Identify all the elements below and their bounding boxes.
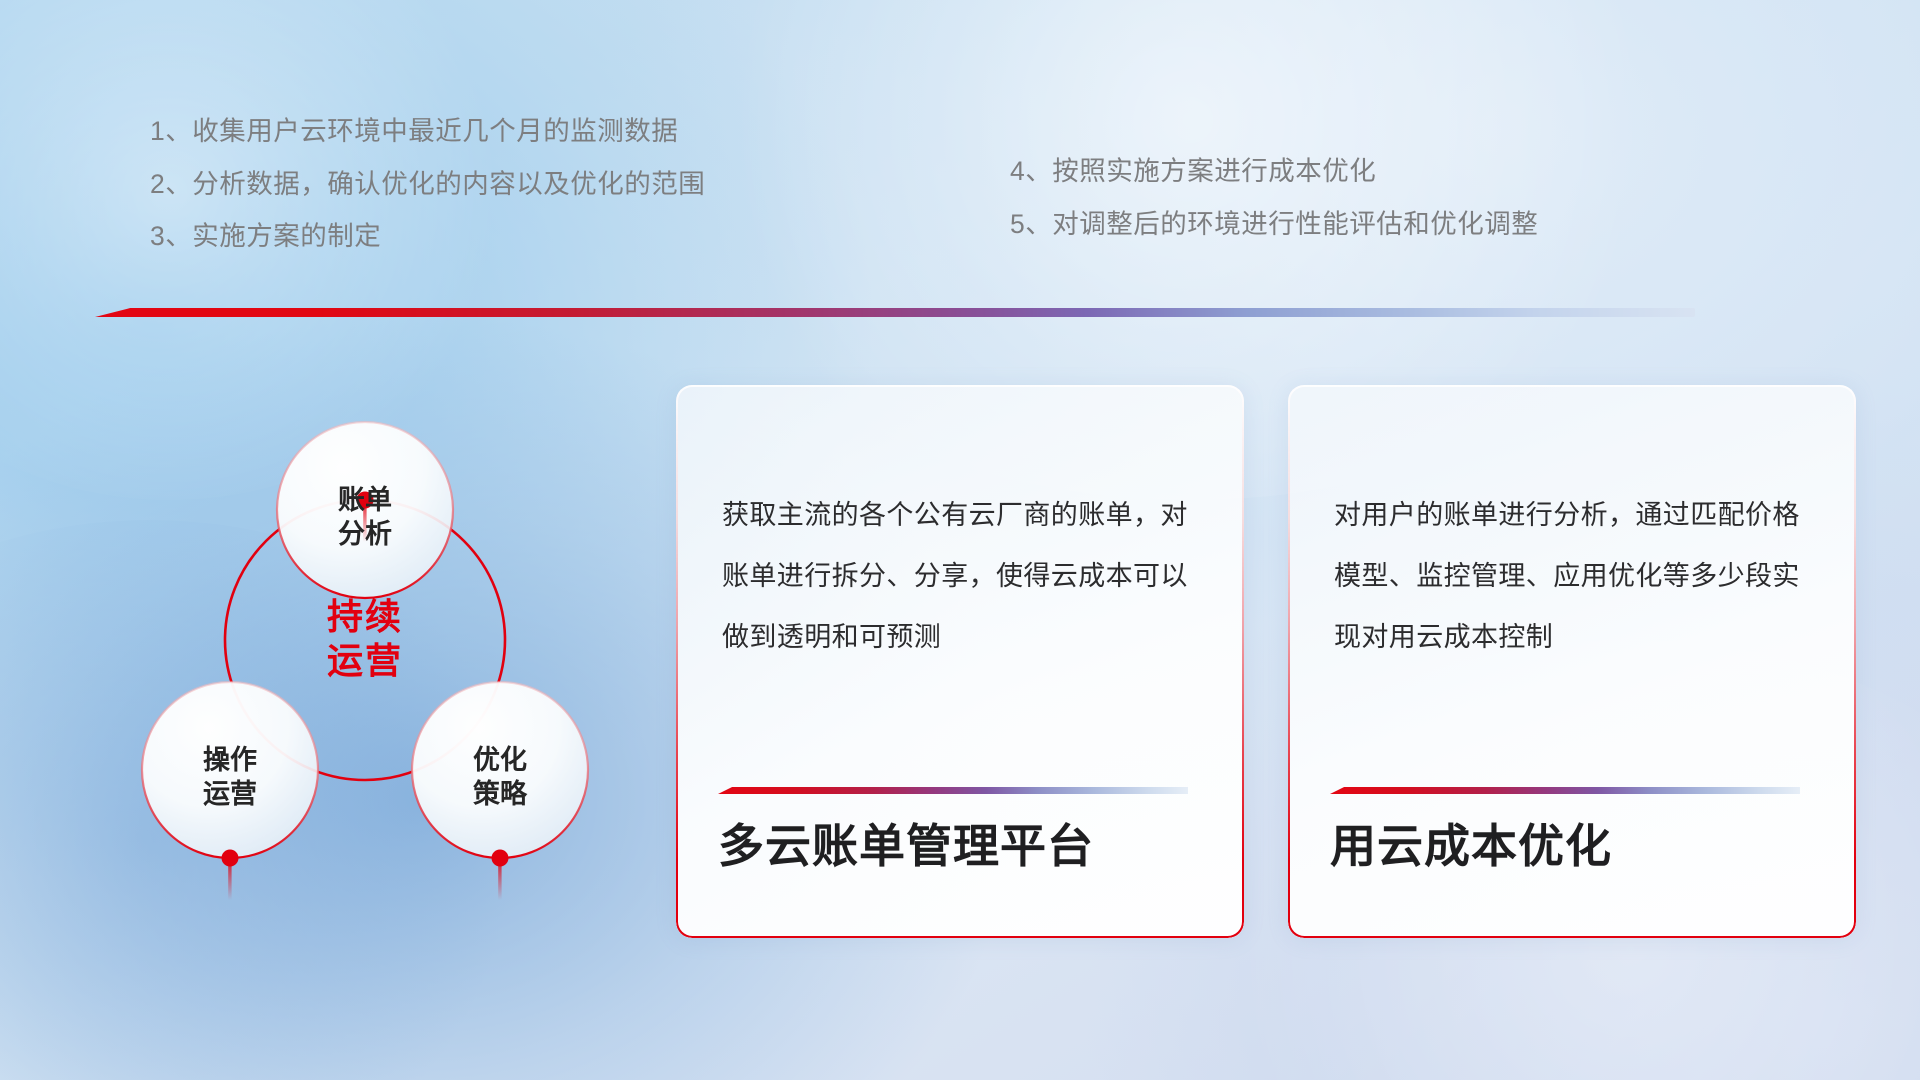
step-item: 2、分析数据，确认优化的内容以及优化的范围 (150, 171, 705, 198)
node-label-line: 账单 (300, 483, 430, 517)
node-label-line: 运营 (165, 777, 295, 811)
node-label-top: 账单 分析 (300, 483, 430, 551)
steps-left-column: 1、收集用户云环境中最近几个月的监测数据 2、分析数据，确认优化的内容以及优化的… (150, 118, 705, 276)
node-label-line: 策略 (435, 777, 565, 811)
node-label-bottom-right: 优化 策略 (435, 743, 565, 811)
node-label-line: 分析 (300, 517, 430, 551)
card-title: 用云成本优化 (1330, 810, 1612, 876)
feature-card-multicloud-billing[interactable]: 获取主流的各个公有云厂商的账单，对账单进行拆分、分享，使得云成本可以做到透明和可… (676, 385, 1244, 938)
center-label-line: 持续 (285, 595, 445, 639)
card-divider (718, 787, 1188, 794)
node-label-line: 操作 (165, 743, 295, 777)
step-item: 4、按照实施方案进行成本优化 (1010, 158, 1538, 185)
steps-right-column: 4、按照实施方案进行成本优化 5、对调整后的环境进行性能评估和优化调整 (1010, 158, 1538, 263)
card-divider (1330, 787, 1800, 794)
card-title: 多云账单管理平台 (718, 810, 1094, 876)
card-description: 对用户的账单进行分析，通过匹配价格模型、监控管理、应用优化等多少段实现对用云成本… (1334, 485, 1820, 667)
step-item: 5、对调整后的环境进行性能评估和优化调整 (1010, 211, 1538, 238)
center-label-line: 运营 (285, 639, 445, 683)
diagram-center-label: 持续 运营 (285, 595, 445, 683)
node-label-line: 优化 (435, 743, 565, 777)
connector-dot-bottom-right (492, 850, 509, 867)
slide-canvas: 1、收集用户云环境中最近几个月的监测数据 2、分析数据，确认优化的内容以及优化的… (0, 0, 1920, 1080)
connector-dot-bottom-left (222, 850, 239, 867)
step-item: 3、实施方案的制定 (150, 223, 705, 250)
card-description: 获取主流的各个公有云厂商的账单，对账单进行拆分、分享，使得云成本可以做到透明和可… (722, 485, 1208, 667)
node-label-bottom-left: 操作 运营 (165, 743, 295, 811)
step-item: 1、收集用户云环境中最近几个月的监测数据 (150, 118, 705, 145)
feature-card-cloud-cost-optimization[interactable]: 对用户的账单进行分析，通过匹配价格模型、监控管理、应用优化等多少段实现对用云成本… (1288, 385, 1856, 938)
section-divider (95, 308, 1695, 317)
continuous-operation-diagram: 账单 分析 操作 运营 优化 策略 持续 运营 (60, 350, 660, 950)
